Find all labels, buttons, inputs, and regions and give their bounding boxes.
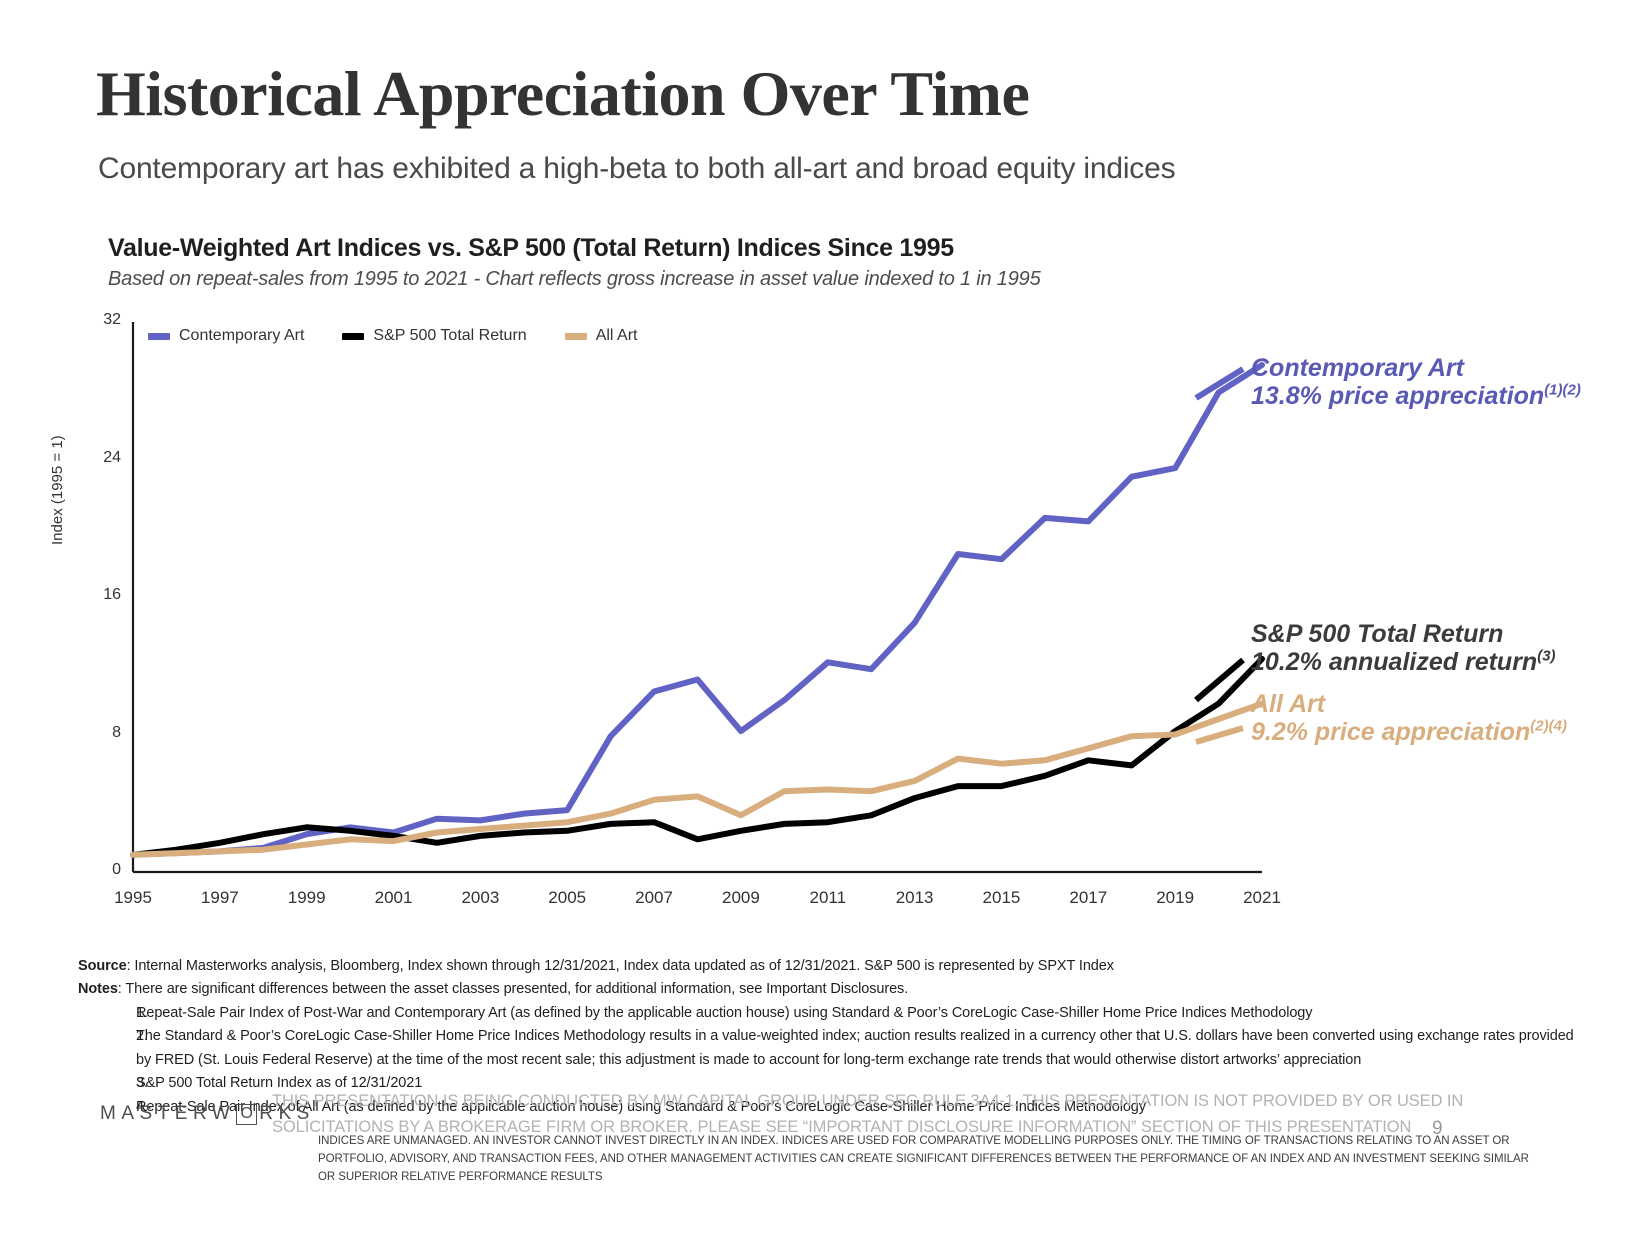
y-tick-label: 8 xyxy=(81,724,121,742)
slide-root: Historical Appreciation Over Time Contem… xyxy=(0,0,1647,1236)
source-label: Source xyxy=(78,958,127,974)
disclaimer-secondary: INDICES ARE UNMANAGED. AN INVESTOR CANNO… xyxy=(318,1133,1548,1186)
x-tick-label: 2021 xyxy=(1227,888,1297,908)
x-tick-label: 2011 xyxy=(793,888,863,908)
series-line-contemporary-art xyxy=(133,365,1262,855)
page-number: 9 xyxy=(1432,1118,1443,1140)
logo-text-pre: MASTERW xyxy=(100,1103,235,1125)
callout-footnote-ref: (2)(4) xyxy=(1530,718,1567,735)
source-line: Source: Internal Masterworks analysis, B… xyxy=(78,955,1578,978)
footnote-item: 1.Repeat-Sale Pair Index of Post-War and… xyxy=(78,1002,1578,1025)
callout-leader-sp500 xyxy=(1196,660,1243,700)
x-tick-label: 1999 xyxy=(272,888,342,908)
callout-line-1: Contemporary Art xyxy=(1251,354,1581,382)
series-callout-all-art: All Art 9.2% price appreciation(2)(4) xyxy=(1251,690,1567,746)
x-tick-label: 1997 xyxy=(185,888,255,908)
footnote-text: Repeat-Sale Pair Index of Post-War and C… xyxy=(136,1002,1578,1025)
logo-boxed-o-icon: O xyxy=(236,1104,257,1125)
callout-line-2: 9.2% price appreciation(2)(4) xyxy=(1251,718,1567,746)
series-line-all-art xyxy=(133,704,1262,855)
y-tick-label: 24 xyxy=(81,449,121,467)
callout-footnote-ref: (3) xyxy=(1537,648,1555,665)
x-tick-label: 2019 xyxy=(1140,888,1210,908)
callout-line-2: 10.2% annualized return(3) xyxy=(1251,648,1556,676)
x-tick-label: 2017 xyxy=(1053,888,1123,908)
x-tick-label: 2003 xyxy=(445,888,515,908)
footnote-number: 2. xyxy=(78,1025,136,1072)
callout-line-2: 13.8% price appreciation(1)(2) xyxy=(1251,382,1581,410)
x-tick-label: 2007 xyxy=(619,888,689,908)
footnote-item: 2.The Standard & Poor’s CoreLogic Case-S… xyxy=(78,1025,1578,1072)
series-line-s-p-500-total-return xyxy=(133,659,1262,855)
callout-footnote-ref: (1)(2) xyxy=(1544,382,1581,399)
notes-text: : There are significant differences betw… xyxy=(118,981,908,997)
notes-line: Notes: There are significant differences… xyxy=(78,978,1578,1001)
callout-line-1: S&P 500 Total Return xyxy=(1251,620,1556,648)
x-tick-label: 2001 xyxy=(359,888,429,908)
y-tick-label: 0 xyxy=(81,861,121,879)
callout-line-2-text: 9.2% price appreciation xyxy=(1251,718,1530,746)
source-text: : Internal Masterworks analysis, Bloombe… xyxy=(127,958,1114,974)
x-tick-label: 2009 xyxy=(706,888,776,908)
series-callout-contemporary-art: Contemporary Art 13.8% price appreciatio… xyxy=(1251,354,1581,410)
x-tick-label: 2005 xyxy=(532,888,602,908)
x-tick-label: 2015 xyxy=(966,888,1036,908)
footnote-number: 3. xyxy=(78,1072,136,1095)
callout-line-1: All Art xyxy=(1251,690,1567,718)
x-tick-label: 1995 xyxy=(98,888,168,908)
callout-line-2-text: 10.2% annualized return xyxy=(1251,648,1537,676)
series-callout-sp500: S&P 500 Total Return 10.2% annualized re… xyxy=(1251,620,1556,676)
callout-leader-allart xyxy=(1196,728,1243,742)
callout-line-2-text: 13.8% price appreciation xyxy=(1251,382,1544,410)
y-tick-label: 16 xyxy=(81,586,121,604)
x-tick-label: 2013 xyxy=(880,888,950,908)
footnote-text: The Standard & Poor’s CoreLogic Case-Shi… xyxy=(136,1025,1578,1072)
y-tick-label: 32 xyxy=(81,311,121,329)
footnote-number: 1. xyxy=(78,1002,136,1025)
notes-label: Notes xyxy=(78,981,118,997)
